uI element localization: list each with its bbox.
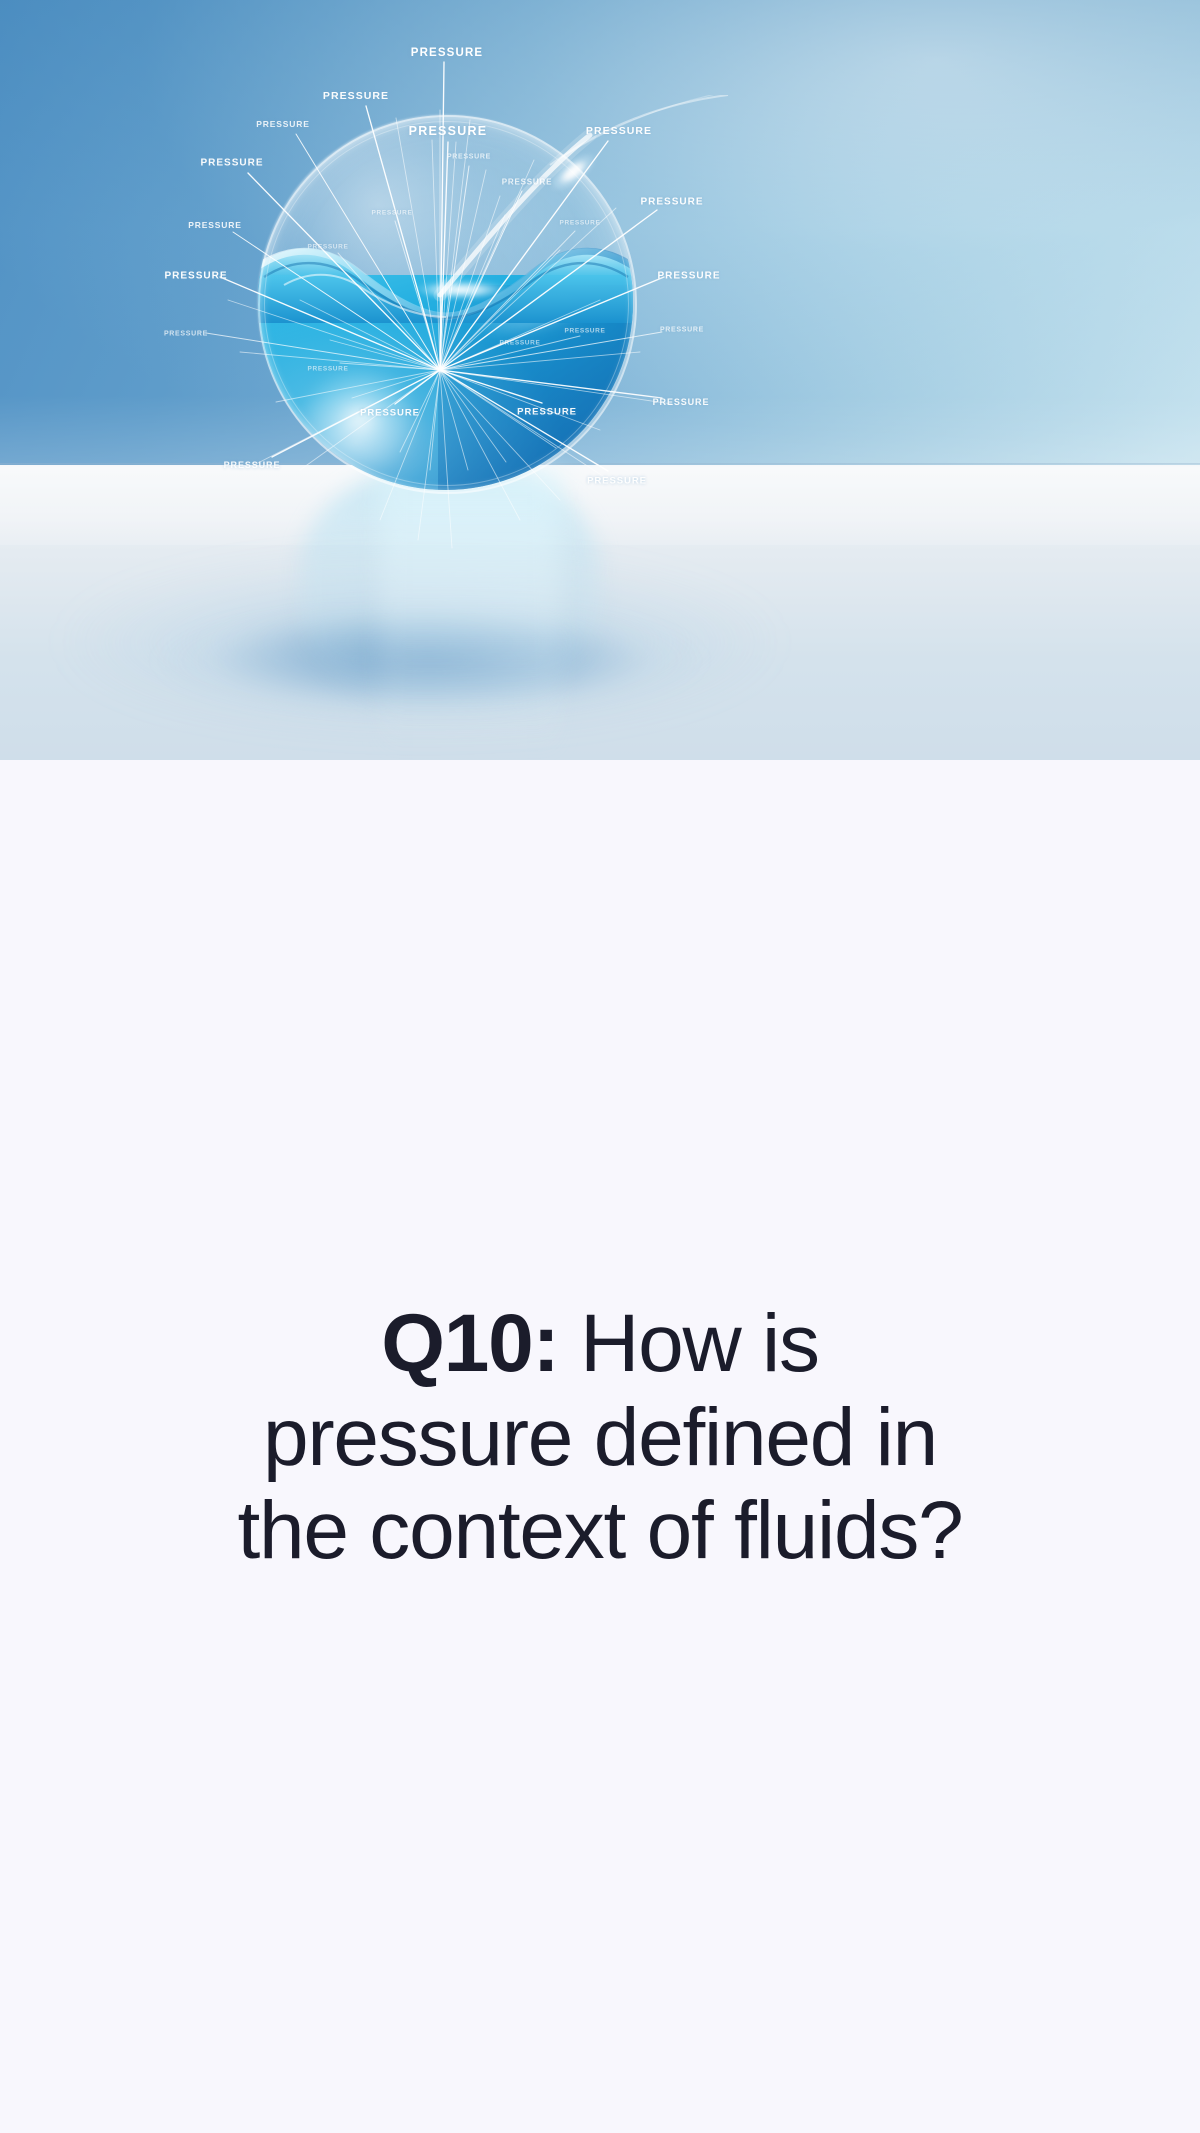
pressure-label: PRESSURE [500,340,541,347]
pressure-label: PRESSURE [188,220,242,230]
pressure-ray [276,370,440,402]
pressure-ray [440,370,662,398]
pressure-ray [440,352,640,370]
pressure-ray [228,300,440,370]
pressure-ray [352,370,440,398]
pressure-ray [440,370,672,404]
pressure-label: PRESSURE [409,124,488,138]
pressure-label: PRESSURE [224,460,281,470]
pressure-ray [432,140,440,370]
pressure-ray [220,277,440,370]
pressure-ray [296,134,440,370]
pressure-label: PRESSURE [657,271,720,282]
pressure-ray [440,196,500,370]
pressure-ray [233,232,440,370]
hero-image: PRESSUREPRESSUREPRESSUREPRESSUREPRESSURE… [0,0,1200,760]
pressure-label: PRESSURE [565,328,606,335]
pressure-ray [440,210,657,370]
pressure-ray [440,370,506,462]
pressure-label: PRESSURE [200,158,263,169]
pressure-label: PRESSURE [308,244,349,251]
pressure-label: PRESSURE [372,210,413,217]
pressure-rays [0,0,1200,760]
pressure-label: PRESSURE [164,331,208,338]
pressure-label: PRESSURE [447,154,491,161]
pressure-label: PRESSURE [517,407,577,418]
pressure-ray [418,370,440,540]
pressure-ray [366,106,440,370]
pressure-ray [440,370,452,548]
question-number: Q10 [381,1298,532,1389]
question-body: How is pressure defined in the context o… [237,1298,962,1576]
pressure-label: PRESSURE [308,366,349,373]
pressure-label: PRESSURE [502,178,552,187]
pressure-ray [440,160,534,370]
slide-page: PRESSUREPRESSUREPRESSUREPRESSUREPRESSURE… [0,0,1200,2133]
pressure-label: PRESSURE [164,271,227,282]
pressure-label: PRESSURE [653,397,710,407]
pressure-ray [440,370,608,471]
pressure-ray [440,370,600,430]
pressure-label: PRESSURE [660,327,704,334]
question-separator: : [533,1298,559,1389]
pressure-ray [338,253,440,370]
pressure-ray [206,333,440,370]
pressure-label: PRESSURE [587,476,647,487]
pressure-label: PRESSURE [256,119,310,129]
pressure-ray [440,370,612,482]
pressure-ray [300,370,440,470]
pressure-label: PRESSURE [411,47,483,59]
pressure-ray [440,250,560,370]
pressure-label: PRESSURE [323,90,389,102]
pressure-label: PRESSURE [640,197,703,208]
question-section: Q10: How is pressure defined in the cont… [0,760,1200,2133]
pressure-label: PRESSURE [586,125,652,137]
question-text: Q10: How is pressure defined in the cont… [220,1297,980,1577]
pressure-label: PRESSURE [360,408,420,419]
pressure-ray [440,332,662,370]
pressure-label: PRESSURE [560,220,601,227]
